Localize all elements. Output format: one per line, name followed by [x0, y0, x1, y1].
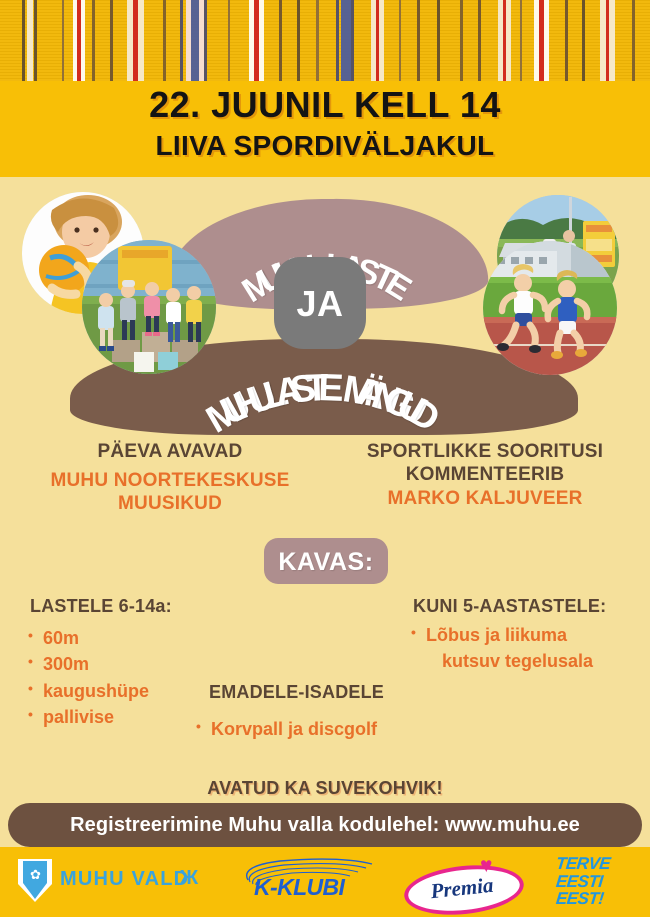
k-klubi-logo[interactable]: K-KLUBI	[240, 856, 380, 906]
stripe	[544, 0, 549, 81]
k-klubi-wordmark: K-KLUBI	[254, 874, 344, 901]
list-item: Lõbus ja liikuma kutsuv tegelusala	[411, 622, 593, 675]
heart-icon: ♥	[480, 856, 502, 876]
stripe	[163, 0, 166, 81]
list-item: 60m	[28, 625, 149, 651]
stripe	[582, 0, 585, 81]
stripe	[180, 0, 183, 81]
stripe	[437, 0, 440, 81]
flower-icon: ✿	[29, 868, 42, 881]
stripe	[609, 0, 615, 81]
stripe	[279, 0, 282, 81]
list-item: pallivise	[28, 704, 149, 730]
stripe	[138, 0, 144, 81]
program-toddlers-heading: KUNI 5-AASTASTELE:	[413, 596, 606, 617]
muhu-vald-wordmark: MUHU VALD	[60, 868, 189, 891]
stripe	[336, 0, 339, 81]
event-date-time: 22. JUUNIL KELL 14	[0, 87, 650, 123]
stripe	[34, 0, 37, 81]
stripe	[565, 0, 568, 81]
stripe	[341, 0, 351, 81]
registration-text[interactable]: Registreerimine Muhu valla kodulehel: ww…	[8, 814, 642, 837]
intro-right-heading-1: SPORTLIKKE SOORITUSI	[335, 441, 635, 463]
terve-line-2: EESTI	[555, 873, 641, 891]
stripe	[92, 0, 95, 81]
photo-running-children	[483, 241, 617, 375]
stripe	[259, 0, 264, 81]
program-toddlers-item-line2: kutsuv tegelusala	[426, 648, 593, 674]
program-toddlers-list: Lõbus ja liikuma kutsuv tegelusala	[411, 622, 593, 675]
intro-right-heading-2: KOMMENTEERIB	[335, 464, 635, 486]
program-toddlers-item-line1: Lõbus ja liikuma	[426, 625, 567, 645]
stripe	[22, 0, 25, 81]
title-banner-ja: JA	[274, 257, 366, 349]
program-kids-heading: LASTELE 6-14a:	[30, 596, 172, 617]
stripe	[632, 0, 635, 81]
stripe	[506, 0, 511, 81]
stripe	[351, 0, 354, 81]
stripe	[204, 0, 207, 81]
terve-eesti-eest-logo[interactable]: TERVE EESTI EEST!	[556, 855, 640, 909]
photo-children-podium	[82, 240, 216, 374]
poster-root: 22. JUUNIL KELL 14 LIIVA SPORDIVÄLJAKUL	[0, 0, 650, 917]
stripe	[460, 0, 463, 81]
event-location: LIIVA SPORDIVÄLJAKUL	[0, 132, 650, 160]
intro-left-accent-2: MUUSIKUD	[10, 493, 330, 515]
list-item: kaugushüpe	[28, 678, 149, 704]
stripe	[520, 0, 522, 81]
stripe	[81, 0, 85, 81]
stripe	[417, 0, 420, 81]
stripe	[62, 0, 64, 81]
stripe	[399, 0, 401, 81]
kavas-label: KAVAS:	[264, 548, 388, 577]
muhu-vald-logo[interactable]: ✿ MUHU VALD Ж	[18, 859, 218, 905]
ribbon-icon: Ж	[180, 867, 198, 890]
premia-logo[interactable]: Premia ♥	[404, 856, 518, 908]
list-item: 300m	[28, 651, 149, 677]
list-item: Korvpall ja discgolf	[196, 716, 377, 742]
title-ja-label: JA	[274, 283, 366, 325]
stripe	[110, 0, 113, 81]
stripe	[27, 0, 33, 81]
registration-bar[interactable]: Registreerimine Muhu valla kodulehel: ww…	[8, 803, 642, 847]
program-parents-heading: EMADELE-ISADELE	[209, 682, 384, 703]
intro-left-accent-1: MUHU NOORTEKESKUSE	[10, 470, 330, 492]
intro-right-accent: MARKO KALJUVEER	[335, 488, 635, 510]
terve-line-1: TERVE	[555, 855, 641, 873]
kavas-badge: KAVAS:	[264, 538, 388, 584]
stripe	[297, 0, 300, 81]
poster-body: MUHU LASTE MUHULASTE MÄNGUD JA PÄEVA AVA…	[0, 177, 650, 791]
program-kids-list: 60m300mkaugushüpepallivise	[28, 625, 149, 731]
textile-stripe-band	[0, 0, 650, 81]
stripe	[316, 0, 319, 81]
intro-left-heading: PÄEVA AVAVAD	[10, 441, 330, 463]
stripe	[478, 0, 481, 81]
stripe	[379, 0, 384, 81]
program-parents-list: Korvpall ja discgolf	[196, 716, 377, 742]
sponsor-footer: ✿ MUHU VALD Ж K-KLUBI Premia ♥ TERVE EES…	[0, 847, 650, 917]
stripe	[228, 0, 230, 81]
cafe-note: AVATUD KA SUVEKOHVIK!	[0, 778, 650, 799]
terve-line-3: EEST!	[555, 890, 641, 908]
date-banner: 22. JUUNIL KELL 14 LIIVA SPORDIVÄLJAKUL	[0, 81, 650, 177]
stripe	[191, 0, 199, 81]
